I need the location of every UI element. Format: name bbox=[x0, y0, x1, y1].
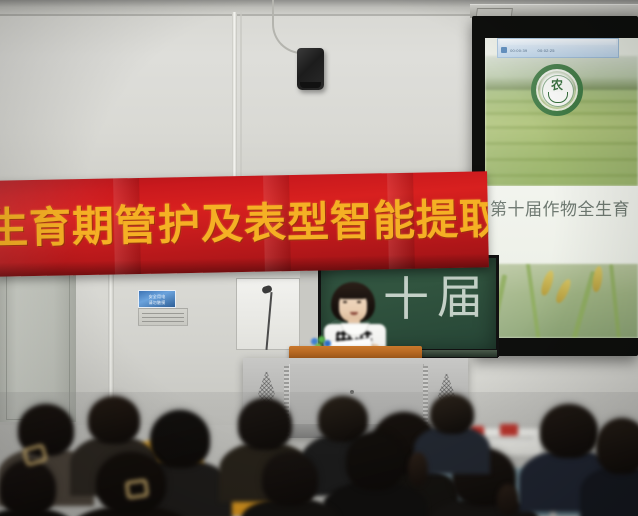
hair-bun bbox=[497, 484, 519, 516]
audience-head-10 bbox=[346, 432, 404, 490]
chalkboard-char-2: 届 bbox=[437, 274, 483, 320]
red-object bbox=[500, 424, 518, 436]
presenter-eye-right bbox=[357, 301, 361, 303]
hair-clip-icon bbox=[125, 479, 149, 500]
audience-head-9 bbox=[596, 418, 638, 474]
wall-placard-line1: 安全用电 bbox=[139, 294, 175, 299]
media-elapsed-time: 00:00:39 bbox=[510, 46, 527, 56]
slide-bottom-photo bbox=[485, 264, 638, 338]
event-banner-text: 生育期管护及表型智能提取技能大赛 bbox=[0, 197, 489, 251]
slide-title-band: 第十届作物全生育 bbox=[485, 186, 638, 264]
lecture-hall-photo: 安全用电 请勿触摸 农 bbox=[0, 0, 638, 516]
slide-title-text: 第十届作物全生育 bbox=[490, 200, 630, 220]
emblem-character: 农 bbox=[548, 78, 566, 92]
play-pause-icon[interactable] bbox=[501, 47, 507, 53]
audience-head-4 bbox=[238, 398, 292, 450]
media-total-time: 00:02:25 bbox=[538, 46, 555, 56]
event-banner: 生育期管护及表型智能提取技能大赛 bbox=[0, 171, 489, 276]
audience-head-3 bbox=[150, 410, 210, 468]
audience-head-8 bbox=[540, 404, 598, 458]
audience-head-13 bbox=[0, 460, 56, 516]
media-player-toolbar[interactable]: 00:00:39 00:02:25 bbox=[497, 38, 619, 58]
wall-speaker-icon bbox=[297, 48, 324, 90]
hair-bun bbox=[408, 452, 428, 486]
audience-head-11 bbox=[262, 452, 318, 506]
presenter-eye-left bbox=[343, 301, 347, 303]
presenter-fringe bbox=[336, 285, 370, 299]
audience-head-2 bbox=[88, 396, 140, 444]
wall-panel-seam-secondary bbox=[240, 12, 242, 202]
projection-screen-surface: 农 00:00:39 00:02:25 第十届作物全生育 bbox=[485, 38, 638, 338]
media-player-controls[interactable]: 00:00:39 00:02:25 bbox=[500, 46, 616, 56]
wall-placard-line2: 请勿触摸 bbox=[139, 300, 175, 305]
wall-placard-label-plate bbox=[138, 308, 188, 326]
audience-head-14 bbox=[430, 394, 474, 434]
wall-panel-seam bbox=[232, 12, 237, 202]
media-player-titlebar bbox=[500, 39, 616, 45]
university-emblem-icon: 农 bbox=[531, 64, 583, 116]
wall-placard: 安全用电 请勿触摸 bbox=[138, 290, 176, 308]
